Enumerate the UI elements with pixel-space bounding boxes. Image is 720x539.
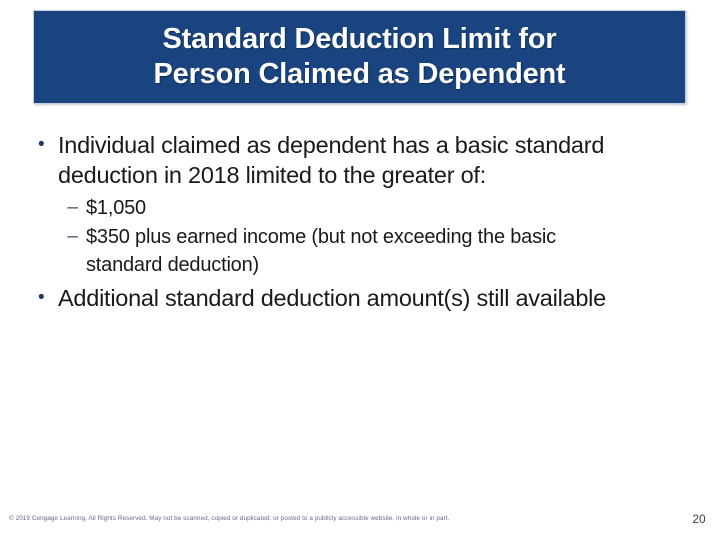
slide-title-line-1: Standard Deduction Limit for — [154, 22, 566, 57]
slide-body: • Individual claimed as dependent has a … — [32, 130, 682, 315]
slide-title-line-2: Person Claimed as Dependent — [154, 57, 566, 92]
bullet-dot-icon: • — [32, 283, 58, 313]
page-title: Standard Deduction Limit for Person Clai… — [144, 22, 576, 93]
sub-bullet-list: – $1,050 – $350 plus earned income (but … — [32, 194, 682, 279]
bullet-text: Additional standard deduction amount(s) … — [58, 283, 643, 313]
sub-bullet-item: – $1,050 — [32, 194, 682, 222]
sub-bullet-text: $1,050 — [86, 194, 631, 222]
bullet-item: • Individual claimed as dependent has a … — [32, 130, 682, 190]
page-number: 20 — [686, 512, 712, 526]
copyright-notice: © 2019 Cengage Learning. All Rights Rese… — [9, 515, 449, 522]
bullet-text: Individual claimed as dependent has a ba… — [58, 130, 643, 190]
bullet-dot-icon: • — [32, 130, 58, 160]
bullet-item: • Additional standard deduction amount(s… — [32, 283, 682, 313]
bullet-dash-icon: – — [32, 194, 86, 222]
sub-bullet-text: $350 plus earned income (but not exceedi… — [86, 223, 631, 279]
presentation-slide: Standard Deduction Limit for Person Clai… — [0, 0, 720, 539]
slide-footer: © 2019 Cengage Learning. All Rights Rese… — [0, 512, 720, 532]
sub-bullet-item: – $350 plus earned income (but not excee… — [32, 223, 682, 279]
bullet-dash-icon: – — [32, 223, 86, 251]
slide-title-bar: Standard Deduction Limit for Person Clai… — [33, 10, 686, 104]
